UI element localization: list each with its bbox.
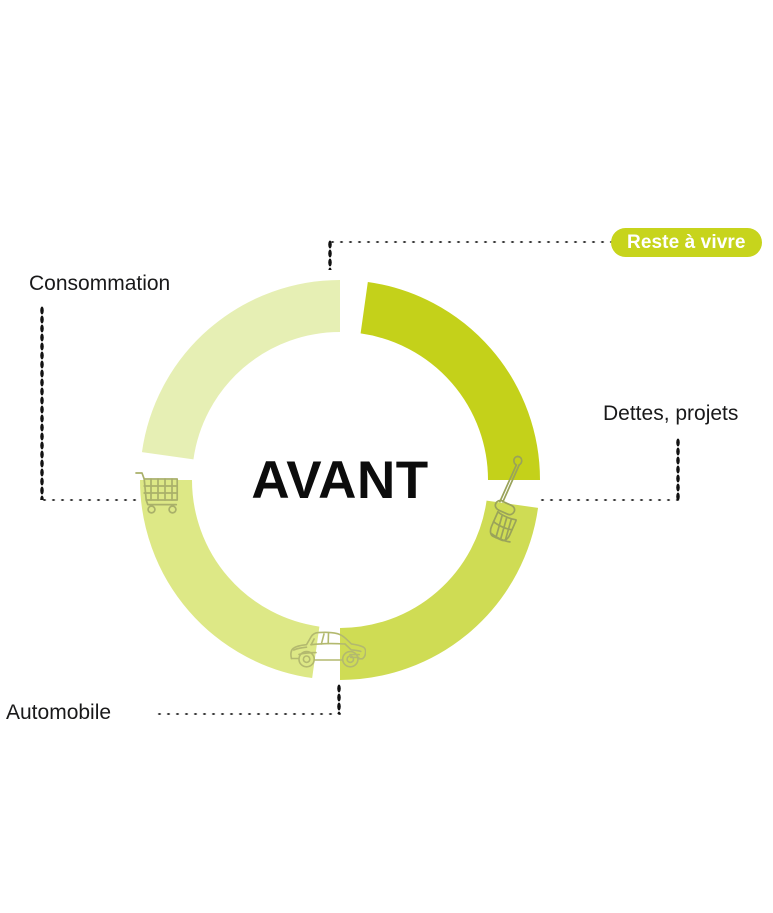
car-icon [288, 626, 366, 672]
label-consommation: Consommation [29, 273, 170, 294]
shopping-cart-icon [133, 468, 183, 516]
connector-consommation-vertical [40, 306, 44, 500]
connector-automobile-horizontal [155, 712, 341, 716]
badge-reste-a-vivre[interactable]: Reste à vivre [611, 228, 762, 257]
connector-dettes-vertical [676, 438, 680, 500]
donut-chart [140, 280, 540, 680]
connector-automobile-vertical [337, 684, 341, 714]
donut-segment-consommation[interactable] [168, 306, 340, 456]
connector-consommation-horizontal [40, 498, 140, 502]
screwdriver-icon [487, 452, 529, 557]
infographic-canvas: AVANT [0, 0, 773, 913]
connector-dettes-horizontal [538, 498, 680, 502]
label-dettes-projets: Dettes, projets [603, 403, 738, 424]
label-automobile: Automobile [6, 702, 111, 723]
connector-reste-a-vivre-vertical [328, 240, 332, 270]
connector-reste-a-vivre-horizontal [328, 240, 614, 244]
